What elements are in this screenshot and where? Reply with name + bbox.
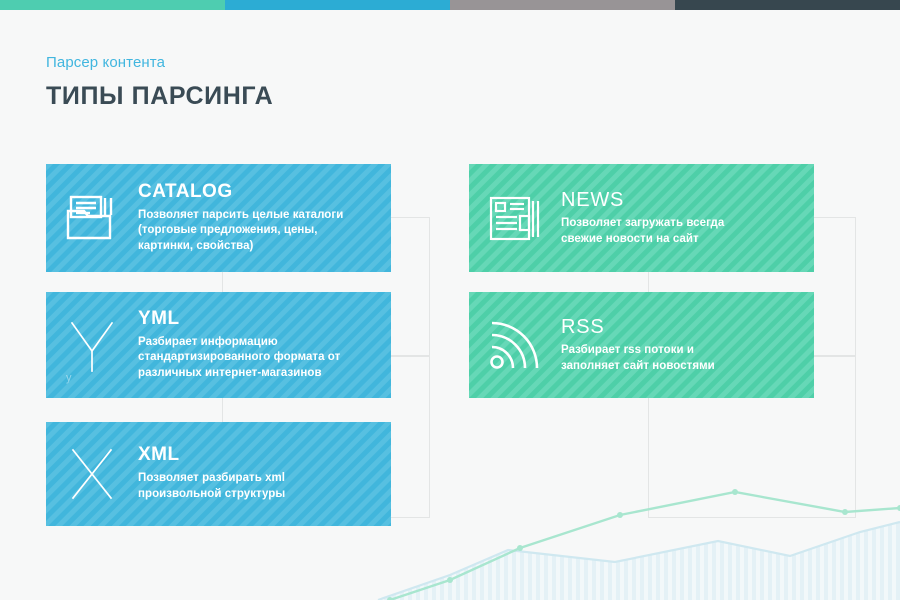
card-title: RSS xyxy=(561,316,800,338)
page-root: Парсер контента ТИПЫ ПАРСИНГА xyxy=(0,0,900,600)
folder-catalog-icon xyxy=(46,193,138,243)
card-news[interactable]: NEWS Позволяет загружать всегда свежие н… xyxy=(469,164,814,272)
letter-y-icon xyxy=(46,313,138,377)
letter-x-icon xyxy=(46,444,138,504)
card-title: NEWS xyxy=(561,189,800,211)
card-title: XML xyxy=(138,445,377,466)
letter-y-sublabel: y xyxy=(66,372,72,384)
card-yml[interactable]: y YML Разбирает информацию стандартизиро… xyxy=(46,292,391,398)
topbar-segment-gray xyxy=(450,0,675,10)
card-xml[interactable]: XML Позволяет разбирать xml произвольной… xyxy=(46,422,391,526)
card-description: Разбирает информацию стандартизированног… xyxy=(138,335,377,382)
card-description: Позволяет парсить целые каталоги (торгов… xyxy=(138,208,377,255)
chart-blue-area xyxy=(378,522,900,600)
topbar-segment-blue xyxy=(225,0,450,10)
card-description: Позволяет разбирать xml произвольной стр… xyxy=(138,471,377,502)
topbar-segment-slate xyxy=(675,0,900,10)
card-description: Разбирает rss потоки и заполняет сайт но… xyxy=(561,343,800,374)
top-color-bar xyxy=(0,0,900,10)
newspaper-icon xyxy=(469,192,561,244)
rss-feed-icon xyxy=(469,316,561,374)
topbar-segment-teal xyxy=(0,0,225,10)
card-description: Позволяет загружать всегда свежие новост… xyxy=(561,216,800,247)
page-title: ТИПЫ ПАРСИНГА xyxy=(46,82,273,111)
card-rss[interactable]: RSS Разбирает rss потоки и заполняет сай… xyxy=(469,292,814,398)
card-catalog[interactable]: CATALOG Позволяет парсить целые каталоги… xyxy=(46,164,391,272)
card-title: YML xyxy=(138,309,377,330)
card-title: CATALOG xyxy=(138,182,377,203)
page-kicker: Парсер контента xyxy=(46,54,165,71)
